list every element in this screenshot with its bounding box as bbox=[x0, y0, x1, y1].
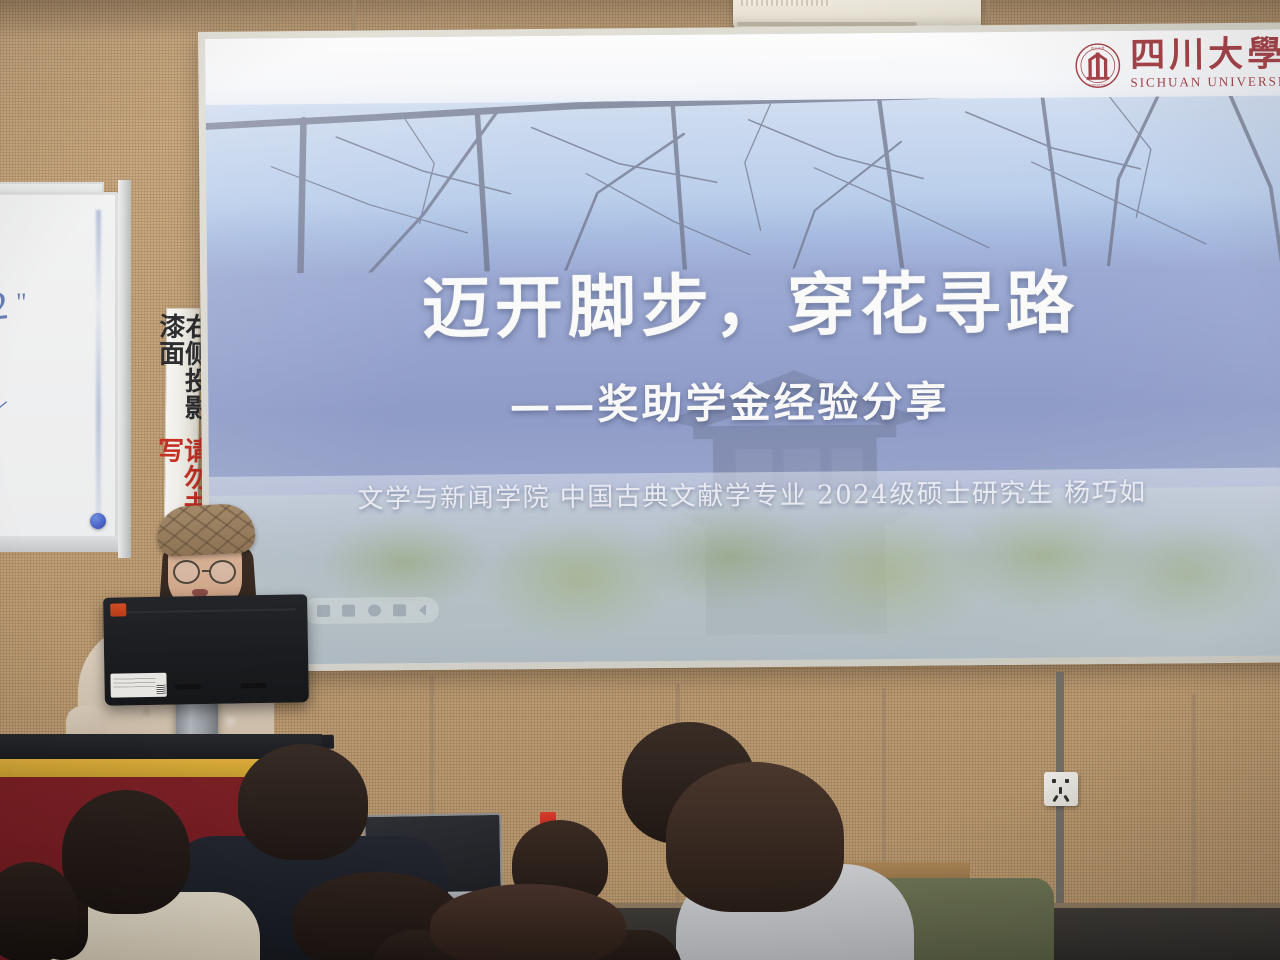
outlet-slot-icon bbox=[1059, 787, 1062, 794]
audience-member bbox=[62, 790, 190, 914]
outlet-slot-icon bbox=[1052, 795, 1058, 803]
slide-icon[interactable] bbox=[393, 604, 406, 616]
sichuan-university-logo: 四 川 大 學 SICHUAN UNIV 四川大學 SICHUAN UNIVER… bbox=[1074, 37, 1280, 91]
whiteboard-smudge bbox=[96, 210, 101, 530]
whiteboard-magnet[interactable] bbox=[90, 513, 106, 529]
slide-subtitle: ——奖助学金经验分享 bbox=[208, 364, 1280, 433]
barcode-icon bbox=[113, 677, 155, 688]
outlet-slot-icon bbox=[1063, 795, 1069, 803]
projected-slide: 四 川 大 學 SICHUAN UNIV 四川大學 SICHUAN UNIVER… bbox=[205, 29, 1280, 664]
svg-text:四 川 大 學: 四 川 大 學 bbox=[1091, 46, 1105, 50]
wall-seam bbox=[1192, 694, 1196, 908]
monitor-vent bbox=[241, 683, 267, 688]
powerpoint-presenter-toolbar[interactable] bbox=[303, 597, 439, 624]
prev-icon[interactable] bbox=[419, 604, 426, 616]
whiteboard-writing: " bbox=[16, 288, 27, 318]
audience-member bbox=[666, 762, 844, 912]
outlet-hole-icon bbox=[1052, 779, 1056, 783]
ac-grille-icon bbox=[741, 0, 831, 6]
pen-icon[interactable] bbox=[317, 605, 330, 617]
projection-screen-frame: 四 川 大 學 SICHUAN UNIV 四川大學 SICHUAN UNIVER… bbox=[198, 22, 1280, 672]
whiteboard-marker-tray bbox=[0, 536, 122, 552]
pointer-icon[interactable] bbox=[342, 605, 355, 617]
slide-title: 迈开脚步，穿花寻路 bbox=[207, 245, 1280, 353]
speaker-beret bbox=[156, 502, 256, 557]
whiteboard-frame bbox=[118, 180, 131, 558]
qr-code-icon bbox=[157, 685, 166, 694]
outlet-hole-icon bbox=[1065, 779, 1069, 783]
glasses-icon bbox=[209, 560, 236, 584]
university-name-en: SICHUAN UNIVERSITY bbox=[1130, 74, 1280, 92]
more-icon[interactable] bbox=[368, 604, 381, 616]
lecture-room-photo: 2 " / 右侧投影漆面 请勿书写 bbox=[0, 0, 1280, 960]
projection-warning-sign: 右侧投影漆面 请勿书写 bbox=[164, 308, 200, 520]
audience-member bbox=[238, 744, 368, 860]
svg-text:SICHUAN UNIV: SICHUAN UNIV bbox=[1088, 83, 1108, 87]
monitor-vent bbox=[175, 684, 201, 689]
computer-monitor[interactable] bbox=[103, 594, 309, 706]
monitor-red-sticker bbox=[110, 603, 126, 616]
university-seal-icon: 四 川 大 學 SICHUAN UNIV bbox=[1074, 42, 1121, 89]
wall-power-outlet[interactable] bbox=[1044, 772, 1078, 806]
glasses-icon bbox=[173, 560, 200, 584]
monitor-ridge bbox=[115, 608, 295, 613]
university-name-cn: 四川大學 bbox=[1130, 38, 1280, 74]
glasses-bridge-icon bbox=[202, 570, 211, 572]
audience-member bbox=[430, 884, 626, 960]
